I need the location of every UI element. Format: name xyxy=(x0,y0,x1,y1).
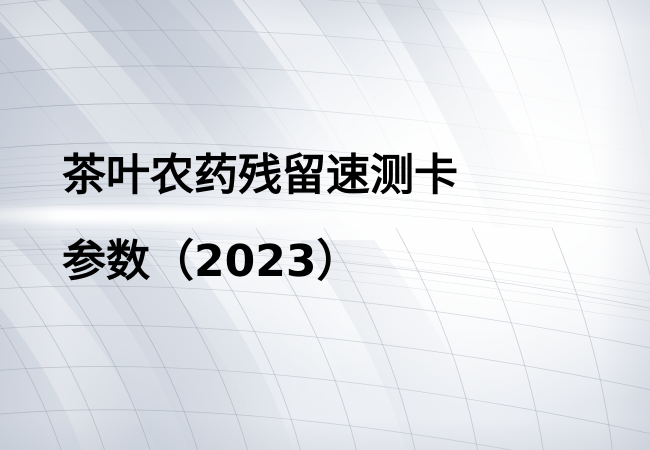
title-banner: 茶叶农药残留速测卡 参数（2023） xyxy=(0,0,650,450)
title-line-primary: 茶叶农药残留速测卡 xyxy=(62,133,622,219)
page-title: 茶叶农药残留速测卡 参数（2023） xyxy=(62,133,622,305)
title-line-secondary: 参数（2023） xyxy=(62,219,622,305)
